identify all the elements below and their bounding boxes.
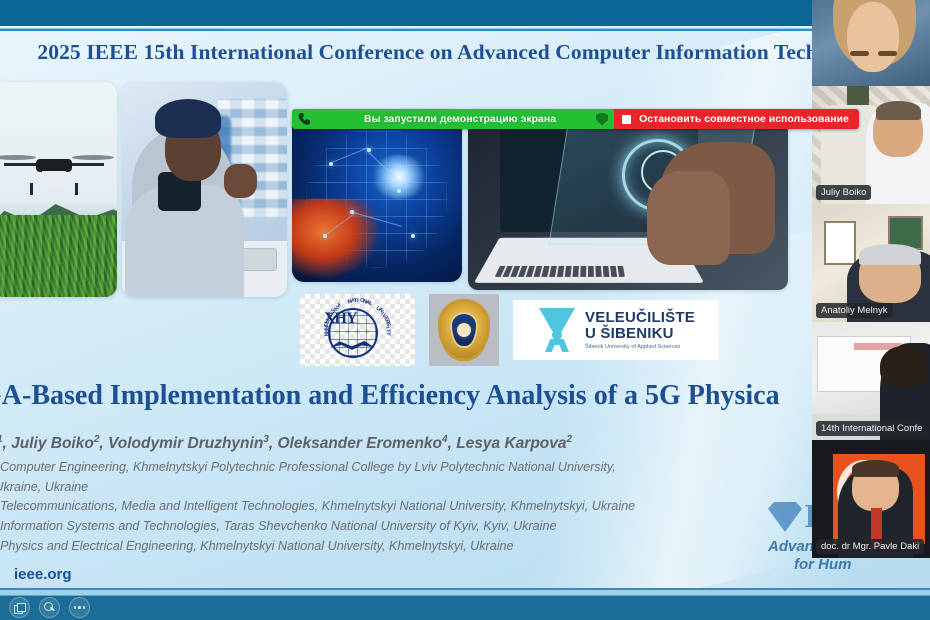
military-academy-crest-logo xyxy=(429,294,499,366)
shared-slide: 2025 IEEE 15th International Conference … xyxy=(0,0,930,595)
more-options-icon[interactable] xyxy=(69,597,90,618)
slide-header-rule xyxy=(0,29,930,31)
share-status-label: Вы запустили демонстрацию экрана xyxy=(316,113,590,125)
ieee-kite-icon xyxy=(768,502,802,532)
photo-agricultural-drone xyxy=(0,82,117,297)
shield-icon xyxy=(596,113,608,126)
tile-anatoliy-melnyk[interactable]: Anatoliy Melnyk xyxy=(812,204,930,322)
vus-line2: U ŠIBENIKU xyxy=(585,326,695,342)
author-affiliation-marker: 2 xyxy=(567,434,573,445)
taskbar xyxy=(0,595,930,620)
author-name: Juliy Boiko xyxy=(11,435,94,452)
photo-network-globe xyxy=(292,110,462,282)
tile-label: Anatoliy Melnyk xyxy=(816,303,893,318)
stop-sharing-button[interactable]: Остановить совместное использование xyxy=(614,109,859,129)
phone-icon xyxy=(298,113,310,125)
khmelnytskyi-national-university-logo: XHY KHMELNYTSKYI NATIONAL UNIVERSITY xyxy=(300,294,415,366)
author-name: Oleksander Eromenko xyxy=(277,435,442,452)
conference-title: 2025 IEEE 15th International Conference … xyxy=(0,32,930,72)
logo-row: XHY KHMELNYTSKYI NATIONAL UNIVERSITY VEL… xyxy=(300,292,719,368)
photo-lab-engineer xyxy=(122,82,287,297)
tile-pavle-dakic[interactable]: doc. dr Mgr. Pavle Daki xyxy=(812,440,930,558)
paper-title: GA-Based Implementation and Efficiency A… xyxy=(0,380,860,412)
video-tile-panel: Juliy Boiko Anatoliy Melnyk 14th Interna… xyxy=(812,0,930,595)
tile-label: 14th International Confe xyxy=(816,421,927,436)
authors-line: tin1, Juliy Boiko2, Volodymir Druzhynin3… xyxy=(0,434,828,453)
share-status-button[interactable]: Вы запустили демонстрацию экрана xyxy=(292,109,614,129)
vus-line1: VELEUČILIŠTE xyxy=(585,310,695,326)
affiliation-line: kyi, Ukraine, Ukraine xyxy=(0,478,812,498)
affiliations-block: nt of Computer Engineering, Khmelnytskyi… xyxy=(0,458,812,556)
tile-label: Juliy Boiko xyxy=(816,185,871,200)
stop-sharing-label: Остановить совместное использование xyxy=(639,113,849,125)
vus-mark-icon xyxy=(537,308,577,352)
khnu-ring-text: KHMELNYTSKYI NATIONAL UNIVERSITY xyxy=(300,294,415,366)
author-affiliation-marker: 4 xyxy=(442,434,448,445)
affiliation-line: nt of Telecommunications, Media and Inte… xyxy=(0,497,812,517)
drone-illustration xyxy=(0,137,108,195)
slide-header-band xyxy=(0,0,930,26)
tile-juliy-boiko[interactable]: Juliy Boiko xyxy=(812,86,930,204)
author-affiliation-marker: 2 xyxy=(94,434,100,445)
author-name: Volodymir Druzhynin xyxy=(108,435,263,452)
tile-partial-top[interactable] xyxy=(812,0,930,86)
affiliation-line: nt of Computer Engineering, Khmelnytskyi… xyxy=(0,458,812,478)
screen-share-banner: Вы запустили демонстрацию экрана Останов… xyxy=(292,109,859,129)
screen-root: 2025 IEEE 15th International Conference … xyxy=(0,0,930,620)
tile-conference-room[interactable]: 14th International Confe xyxy=(812,322,930,440)
affiliation-line: nt of Information Systems and Technologi… xyxy=(0,517,812,537)
search-icon[interactable] xyxy=(39,597,60,618)
ieee-org-link[interactable]: ieee.org xyxy=(14,566,72,583)
task-view-icon[interactable] xyxy=(9,597,30,618)
photo-laptop-hologram xyxy=(468,110,788,290)
author-affiliation-marker: 3 xyxy=(263,434,269,445)
veleuciliste-u-sibeniku-logo: VELEUČILIŠTE U ŠIBENIKU Šibenik Universi… xyxy=(513,300,719,360)
vus-subtitle: Šibenik University of Applied Sciences xyxy=(585,344,695,350)
tile-label: doc. dr Mgr. Pavle Daki xyxy=(816,539,924,554)
affiliation-line: nt of Physics and Electrical Engineering… xyxy=(0,537,812,557)
stop-square-icon xyxy=(622,115,631,124)
author-name: Lesya Karpova xyxy=(456,435,566,452)
author-affiliation-marker: 1 xyxy=(0,434,3,445)
